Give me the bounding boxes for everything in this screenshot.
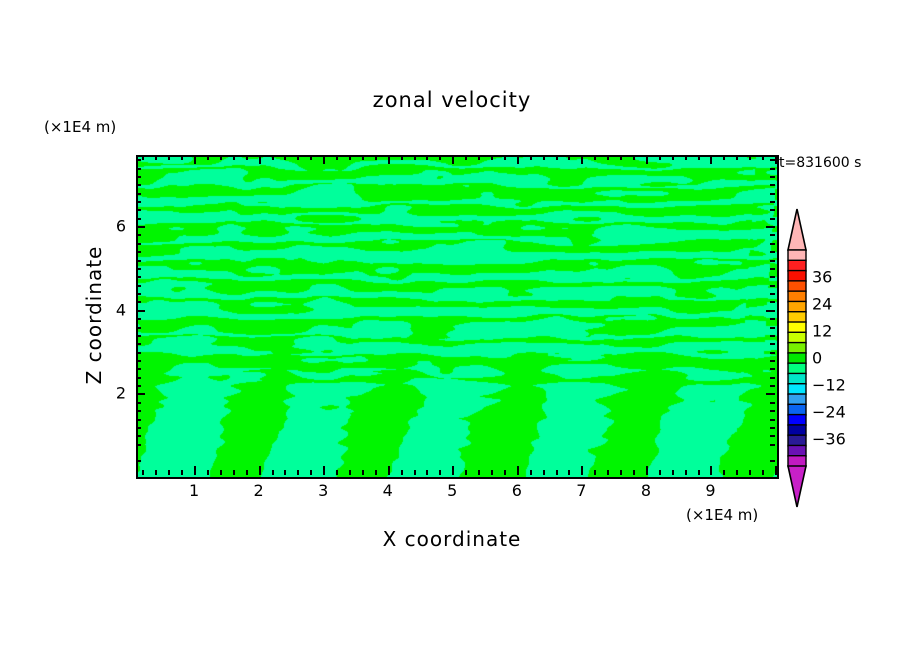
tick-y-left — [136, 201, 141, 203]
tick-y-right — [770, 293, 775, 295]
tick-y-right — [770, 176, 775, 178]
tick-y-left — [136, 352, 141, 354]
tick-x-top — [504, 155, 506, 160]
tick-y-left — [136, 193, 141, 195]
tick-y-left — [136, 444, 141, 446]
tick-y-left — [136, 318, 141, 320]
tick-x-top — [168, 155, 170, 160]
tick-y-left — [136, 377, 141, 379]
tick-y-right — [770, 327, 775, 329]
tick-x-top — [452, 155, 454, 164]
tick-y-right — [770, 285, 775, 287]
tick-y-right — [770, 159, 775, 161]
tick-x-top — [568, 155, 570, 160]
tick-x-bottom — [710, 466, 712, 475]
tick-x-top — [749, 155, 751, 160]
x-tick-label: 7 — [576, 481, 586, 500]
y-tick-label: 6 — [94, 217, 126, 236]
colorbar-tick-label: 0 — [812, 349, 822, 368]
time-annotation: t=831600 s — [779, 155, 861, 171]
tick-y-right — [770, 184, 775, 186]
tick-y-left — [136, 335, 141, 337]
tick-y-left — [136, 268, 141, 270]
colorbar-band — [788, 353, 806, 364]
tick-x-top — [685, 155, 687, 160]
tick-y-left — [136, 427, 141, 429]
tick-x-bottom — [478, 470, 480, 475]
colorbar-band — [788, 435, 806, 446]
tick-x-top — [594, 155, 596, 160]
tick-y-right — [770, 335, 775, 337]
tick-y-right — [770, 368, 775, 370]
tick-x-top — [194, 155, 196, 164]
tick-y-left — [136, 385, 141, 387]
tick-x-top — [272, 155, 274, 160]
tick-x-top — [762, 155, 764, 160]
tick-x-bottom — [530, 470, 532, 475]
tick-y-right — [770, 276, 775, 278]
tick-y-right — [770, 385, 775, 387]
colorbar-band — [788, 456, 806, 467]
tick-x-bottom — [633, 470, 635, 475]
tick-x-top — [336, 155, 338, 160]
colorbar-tick-label: 36 — [812, 268, 832, 287]
tick-y-left — [136, 368, 141, 370]
tick-x-bottom — [388, 466, 390, 475]
tick-x-top — [439, 155, 441, 160]
tick-y-left — [136, 285, 141, 287]
tick-x-bottom — [401, 470, 403, 475]
tick-x-bottom — [207, 470, 209, 475]
colorbar-band — [788, 271, 806, 282]
tick-y-left — [136, 243, 141, 245]
tick-x-bottom — [749, 470, 751, 475]
tick-x-bottom — [181, 470, 183, 475]
tick-x-bottom — [491, 470, 493, 475]
colorbar-band — [788, 301, 806, 312]
tick-y-left — [136, 419, 141, 421]
colorbar-band — [788, 332, 806, 343]
colorbar-tick-label: 12 — [812, 322, 832, 341]
colorbar-tick-label: −36 — [812, 430, 846, 449]
tick-y-right — [770, 251, 775, 253]
tick-x-bottom — [762, 470, 764, 475]
colorbar-bottom-cap — [788, 466, 806, 507]
tick-y-left — [136, 343, 141, 345]
tick-y-left — [136, 402, 141, 404]
tick-x-top — [736, 155, 738, 160]
tick-y-left — [136, 168, 141, 170]
colorbar-band — [788, 250, 806, 261]
tick-y-right — [770, 352, 775, 354]
tick-y-right — [770, 444, 775, 446]
tick-x-bottom — [556, 470, 558, 475]
tick-x-bottom — [685, 470, 687, 475]
x-tick-label: 6 — [512, 481, 522, 500]
tick-y-left — [136, 310, 145, 312]
tick-x-bottom — [297, 470, 299, 475]
tick-x-bottom — [723, 470, 725, 475]
tick-y-right — [770, 260, 775, 262]
colorbar-band — [788, 281, 806, 292]
tick-y-left — [136, 293, 141, 295]
tick-x-bottom — [659, 470, 661, 475]
tick-y-left — [136, 301, 141, 303]
y-tick-label: 2 — [94, 384, 126, 403]
tick-x-bottom — [504, 470, 506, 475]
tick-y-right — [770, 243, 775, 245]
colorbar-band — [788, 312, 806, 323]
tick-y-left — [136, 234, 141, 236]
tick-y-left — [136, 327, 141, 329]
colorbar-tick-label: 24 — [812, 295, 832, 314]
tick-y-right — [770, 377, 775, 379]
tick-y-right — [770, 318, 775, 320]
tick-x-top — [710, 155, 712, 164]
tick-y-right — [770, 218, 775, 220]
figure-canvas: zonal velocity (×1E4 m) (×1E4 m) X coord… — [0, 0, 904, 654]
colorbar-band — [788, 373, 806, 384]
tick-x-top — [775, 155, 777, 164]
tick-y-left — [136, 209, 141, 211]
tick-x-top — [310, 155, 312, 160]
tick-y-right — [770, 460, 775, 462]
tick-x-top — [659, 155, 661, 160]
colorbar-tick-label: −24 — [812, 403, 846, 422]
tick-y-right — [770, 419, 775, 421]
colorbar-band — [788, 363, 806, 374]
tick-x-bottom — [349, 470, 351, 475]
tick-x-top — [517, 155, 519, 164]
colorbar-band — [788, 322, 806, 333]
tick-x-bottom — [310, 470, 312, 475]
tick-x-bottom — [775, 466, 777, 475]
tick-x-top — [414, 155, 416, 160]
tick-x-top — [401, 155, 403, 160]
tick-y-left — [136, 260, 141, 262]
tick-y-right — [770, 168, 775, 170]
tick-x-top — [672, 155, 674, 160]
tick-x-top — [478, 155, 480, 160]
tick-x-bottom — [284, 470, 286, 475]
tick-x-bottom — [272, 470, 274, 475]
tick-x-bottom — [233, 470, 235, 475]
x-tick-label: 1 — [189, 481, 199, 500]
tick-x-top — [607, 155, 609, 160]
tick-x-top — [362, 155, 364, 160]
colorbar-band — [788, 415, 806, 426]
tick-y-right — [770, 402, 775, 404]
tick-y-left — [136, 393, 145, 395]
tick-y-right — [766, 310, 775, 312]
tick-x-top — [142, 155, 144, 160]
tick-x-bottom — [362, 470, 364, 475]
tick-y-left — [136, 360, 141, 362]
tick-x-bottom — [414, 470, 416, 475]
tick-x-bottom — [323, 466, 325, 475]
colorbar-band — [788, 384, 806, 395]
tick-x-bottom — [594, 470, 596, 475]
tick-x-top — [543, 155, 545, 160]
tick-x-bottom — [607, 470, 609, 475]
tick-x-bottom — [646, 466, 648, 475]
tick-x-top — [491, 155, 493, 160]
tick-x-top — [465, 155, 467, 160]
tick-y-right — [770, 209, 775, 211]
contour-plot-area — [136, 155, 779, 479]
tick-x-bottom — [736, 470, 738, 475]
tick-x-bottom — [698, 470, 700, 475]
tick-x-top — [646, 155, 648, 164]
tick-y-right — [766, 393, 775, 395]
tick-x-bottom — [220, 470, 222, 475]
tick-x-top — [388, 155, 390, 164]
tick-x-bottom — [168, 470, 170, 475]
tick-x-top — [620, 155, 622, 160]
tick-x-bottom — [336, 470, 338, 475]
tick-y-left — [136, 251, 141, 253]
x-tick-label: 3 — [318, 481, 328, 500]
tick-x-top — [426, 155, 428, 160]
colorbar-tick-label: −12 — [812, 376, 846, 395]
colorbar-top-cap — [788, 209, 806, 250]
y-tick-label: 4 — [94, 300, 126, 319]
tick-x-top — [246, 155, 248, 160]
tick-y-left — [136, 435, 141, 437]
colorbar-band — [788, 260, 806, 271]
x-axis-unit-label: (×1E4 m) — [686, 506, 758, 524]
tick-y-right — [770, 193, 775, 195]
tick-y-right — [770, 201, 775, 203]
tick-x-bottom — [465, 470, 467, 475]
tick-x-top — [698, 155, 700, 160]
tick-y-right — [770, 360, 775, 362]
colorbar-band — [788, 425, 806, 436]
tick-y-left — [136, 159, 141, 161]
tick-y-right — [770, 427, 775, 429]
tick-x-top — [259, 155, 261, 164]
tick-y-right — [770, 435, 775, 437]
tick-x-bottom — [439, 470, 441, 475]
tick-x-top — [556, 155, 558, 160]
tick-y-right — [770, 410, 775, 412]
tick-y-left — [136, 218, 141, 220]
tick-x-top — [220, 155, 222, 160]
colorbar-band — [788, 404, 806, 415]
colorbar-band — [788, 291, 806, 302]
tick-x-bottom — [568, 470, 570, 475]
tick-x-bottom — [259, 466, 261, 475]
tick-x-bottom — [517, 466, 519, 475]
tick-x-top — [207, 155, 209, 160]
tick-y-right — [770, 268, 775, 270]
tick-x-bottom — [452, 466, 454, 475]
tick-y-left — [136, 226, 145, 228]
tick-y-left — [136, 410, 141, 412]
tick-x-bottom — [581, 466, 583, 475]
tick-x-top — [297, 155, 299, 160]
tick-x-bottom — [155, 470, 157, 475]
x-tick-label: 5 — [447, 481, 457, 500]
colorbar-band — [788, 445, 806, 456]
tick-y-right — [770, 343, 775, 345]
tick-x-top — [530, 155, 532, 160]
tick-x-top — [155, 155, 157, 160]
tick-x-top — [581, 155, 583, 164]
tick-x-top — [633, 155, 635, 160]
tick-y-right — [766, 226, 775, 228]
tick-x-top — [723, 155, 725, 160]
tick-x-bottom — [543, 470, 545, 475]
tick-y-left — [136, 184, 141, 186]
colorbar-band — [788, 394, 806, 405]
x-tick-label: 2 — [254, 481, 264, 500]
contour-field — [138, 157, 777, 477]
tick-x-bottom — [194, 466, 196, 475]
tick-y-left — [136, 460, 141, 462]
colorbar-band — [788, 343, 806, 354]
y-axis-unit-label: (×1E4 m) — [44, 118, 116, 136]
x-axis-title: X coordinate — [0, 527, 904, 551]
tick-x-bottom — [375, 470, 377, 475]
tick-y-left — [136, 276, 141, 278]
tick-x-top — [233, 155, 235, 160]
x-tick-label: 8 — [641, 481, 651, 500]
colorbar-swatches — [784, 208, 810, 508]
tick-x-bottom — [426, 470, 428, 475]
tick-y-right — [770, 234, 775, 236]
tick-x-top — [323, 155, 325, 164]
tick-x-bottom — [620, 470, 622, 475]
tick-y-right — [770, 301, 775, 303]
tick-y-left — [136, 176, 141, 178]
x-tick-label: 9 — [705, 481, 715, 500]
tick-x-top — [181, 155, 183, 160]
page-title: zonal velocity — [0, 88, 904, 112]
colorbar — [784, 208, 810, 508]
tick-x-top — [349, 155, 351, 160]
tick-x-bottom — [246, 470, 248, 475]
tick-x-bottom — [672, 470, 674, 475]
tick-x-top — [284, 155, 286, 160]
tick-x-bottom — [142, 470, 144, 475]
x-tick-label: 4 — [383, 481, 393, 500]
tick-x-top — [375, 155, 377, 160]
